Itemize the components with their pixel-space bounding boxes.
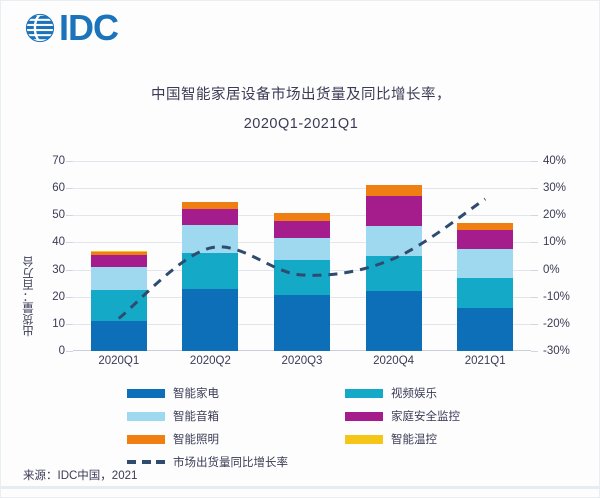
legend-label: 智能照明: [173, 431, 219, 447]
legend-item-smart-appliance[interactable]: 智能家电: [127, 385, 327, 401]
bar-segment[interactable]: [457, 249, 513, 278]
y-tick-left: 40: [35, 236, 65, 248]
y-tick-mark-left: [66, 188, 73, 189]
y-tick-mark-left: [66, 297, 73, 298]
bar-segment[interactable]: [457, 278, 513, 308]
bar-segment[interactable]: [457, 230, 513, 249]
bar-segment[interactable]: [366, 226, 422, 256]
bar-segment[interactable]: [182, 289, 238, 351]
x-tick-label: 2020Q2: [166, 355, 254, 367]
y-tick-mark-right: [531, 215, 538, 216]
y-tick-right: -30%: [543, 345, 583, 357]
bar-segment[interactable]: [91, 267, 147, 290]
bar-segment[interactable]: [182, 225, 238, 254]
bar-segment[interactable]: [366, 196, 422, 226]
legend-item-yoy-growth-rate[interactable]: 市场出货量同比增长率: [127, 454, 327, 470]
y-tick-left: 30: [35, 264, 65, 276]
x-tick-label: 2021Q1: [441, 355, 529, 367]
bar-segment[interactable]: [91, 290, 147, 321]
bar-stack[interactable]: [91, 161, 147, 351]
y-tick-mark-right: [531, 188, 538, 189]
legend-swatch-smart-speaker: [127, 412, 165, 421]
y-tick-right: 30%: [543, 182, 583, 194]
legend-label: 视频娱乐: [391, 385, 437, 401]
y-tick-right: 0%: [543, 264, 583, 276]
x-tick-label: 2020Q4: [350, 355, 438, 367]
y-tick-mark-left: [66, 270, 73, 271]
bar-segment[interactable]: [91, 252, 147, 255]
y-tick-left: 70: [35, 155, 65, 167]
legend-swatch-smart-appliance: [127, 389, 165, 398]
chart-title-line-1: 中国智能家居设备市场出货量及同比增长率，: [1, 83, 600, 104]
bar-segment[interactable]: [274, 221, 330, 239]
bar-segment[interactable]: [274, 260, 330, 295]
x-tick-label: 2020Q1: [75, 355, 163, 367]
plot-area: [73, 161, 531, 351]
bar-segment[interactable]: [91, 251, 147, 252]
idc-logo-text: IDC: [59, 11, 118, 45]
x-tick-label: 2020Q3: [258, 355, 346, 367]
bar-segment[interactable]: [457, 308, 513, 351]
y-tick-mark-right: [531, 351, 538, 352]
y-tick-mark-left: [66, 161, 73, 162]
legend-swatch-smart-lighting: [127, 435, 165, 444]
y-tick-mark-left: [66, 215, 73, 216]
page-title: 中国智能家居设备市场出货量及同比增长率， 2020Q1-2021Q1: [1, 83, 600, 132]
y-tick-mark-left: [66, 242, 73, 243]
y-tick-mark-right: [531, 242, 538, 243]
chart-page: IDC 中国智能家居设备市场出货量及同比增长率， 2020Q1-2021Q1 出…: [0, 0, 600, 498]
bar-stack[interactable]: [182, 161, 238, 351]
y-tick-left: 20: [35, 291, 65, 303]
bar-segment[interactable]: [182, 202, 238, 209]
bar-segment[interactable]: [274, 213, 330, 221]
legend-label: 智能家电: [173, 385, 219, 401]
legend-item-smart-lighting[interactable]: 智能照明: [127, 431, 327, 447]
y-tick-mark-left: [66, 351, 73, 352]
y-tick-left: 10: [35, 318, 65, 330]
y-tick-mark-right: [531, 297, 538, 298]
y-tick-left: 50: [35, 209, 65, 221]
legend-item-smart-speaker[interactable]: 智能音箱: [127, 408, 327, 424]
chart-legend: 智能家电视频娱乐智能音箱家庭安全监控智能照明智能温控市场出货量同比增长率: [127, 385, 547, 470]
bar-segment[interactable]: [366, 291, 422, 351]
legend-item-home-security[interactable]: 家庭安全监控: [345, 408, 545, 424]
legend-item-video-entertainment[interactable]: 视频娱乐: [345, 385, 545, 401]
y-tick-mark-left: [66, 324, 73, 325]
idc-globe-icon: [23, 11, 57, 45]
bar-segment[interactable]: [274, 295, 330, 351]
legend-label: 智能音箱: [173, 408, 219, 424]
bar-segment[interactable]: [91, 255, 147, 267]
legend-label: 家庭安全监控: [391, 408, 460, 424]
bar-segment[interactable]: [91, 321, 147, 351]
y-tick-mark-right: [531, 270, 538, 271]
y-tick-right: -20%: [543, 318, 583, 330]
legend-item-smart-thermostat[interactable]: 智能温控: [345, 431, 545, 447]
bottom-divider: [1, 486, 600, 489]
idc-logo: IDC: [23, 11, 118, 45]
y-tick-mark-right: [531, 161, 538, 162]
bar-segment[interactable]: [274, 238, 330, 260]
y-tick-mark-right: [531, 324, 538, 325]
legend-swatch-home-security: [345, 412, 383, 421]
legend-dash-yoy-growth-rate: [127, 458, 165, 467]
y-tick-right: 40%: [543, 155, 583, 167]
bar-stack[interactable]: [366, 161, 422, 351]
y-tick-right: 20%: [543, 209, 583, 221]
legend-swatch-video-entertainment: [345, 389, 383, 398]
bar-segment[interactable]: [366, 185, 422, 196]
bar-segment[interactable]: [366, 256, 422, 291]
legend-label: 市场出货量同比增长率: [173, 454, 288, 470]
legend-label: 智能温控: [391, 431, 437, 447]
y-tick-right: 10%: [543, 236, 583, 248]
bar-stack[interactable]: [274, 161, 330, 351]
y-tick-left: 60: [35, 182, 65, 194]
chart-title-line-2: 2020Q1-2021Q1: [1, 116, 600, 132]
y-tick-right: -10%: [543, 291, 583, 303]
bar-segment[interactable]: [182, 253, 238, 288]
bar-segment[interactable]: [457, 223, 513, 230]
legend-swatch-smart-thermostat: [345, 435, 383, 444]
bar-segment[interactable]: [182, 209, 238, 225]
source-note: 来源：IDC中国，2021: [23, 467, 137, 483]
y-tick-left: 0: [35, 345, 65, 357]
bar-stack[interactable]: [457, 161, 513, 351]
